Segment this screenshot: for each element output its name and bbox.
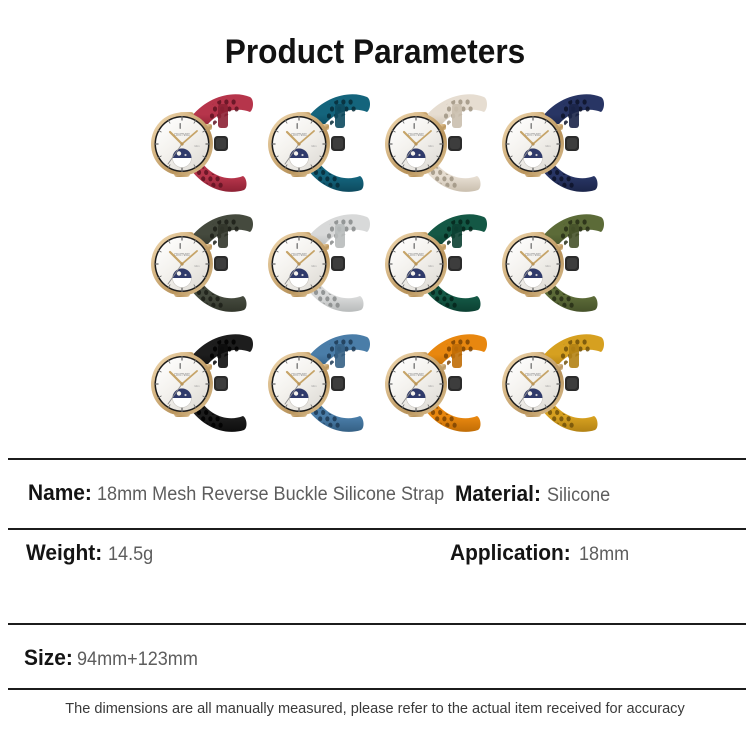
svg-text:OMTWE: OMTWE <box>525 372 541 377</box>
svg-text:Mon: Mon <box>545 264 551 268</box>
svg-text:OMTWE: OMTWE <box>174 252 190 257</box>
svg-text:OMTWE: OMTWE <box>408 372 424 377</box>
watch-strap-beige[interactable]: OMTWE Mon <box>380 84 497 204</box>
spec-divider-2 <box>8 528 746 530</box>
spec-label-size: Size: <box>24 643 73 673</box>
spec-label-application: Application: <box>450 538 571 568</box>
spec-divider-1 <box>8 458 746 460</box>
svg-text:Mon: Mon <box>545 144 551 148</box>
svg-text:Mon: Mon <box>428 264 434 268</box>
watch-strap-steel-blue[interactable]: OMTWE Mon <box>263 324 380 444</box>
watch-strap-mustard[interactable]: OMTWE Mon <box>497 324 614 444</box>
watch-image: OMTWE Mon <box>499 330 611 438</box>
watch-strap-dark-green[interactable]: OMTWE Mon <box>380 204 497 324</box>
spec-field-weight: Weight: 14.5g <box>26 538 156 568</box>
svg-text:OMTWE: OMTWE <box>525 132 541 137</box>
spec-label-name: Name: <box>28 478 92 508</box>
spec-label-material: Material: <box>455 479 541 509</box>
svg-text:OMTWE: OMTWE <box>525 252 541 257</box>
spec-value-size: 94mm+123mm <box>77 645 198 675</box>
svg-text:OMTWE: OMTWE <box>408 252 424 257</box>
watch-image: OMTWE Mon <box>499 210 611 318</box>
watch-image: OMTWE Mon <box>148 330 260 438</box>
svg-text:Mon: Mon <box>194 144 200 148</box>
spec-value-application: 18mm <box>579 540 629 570</box>
svg-text:Mon: Mon <box>311 264 317 268</box>
svg-text:Mon: Mon <box>545 384 551 388</box>
svg-text:OMTWE: OMTWE <box>174 372 190 377</box>
watch-image: OMTWE Mon <box>382 210 494 318</box>
watch-image: OMTWE Mon <box>148 210 260 318</box>
spec-field-material: Material: Silicone <box>455 479 614 509</box>
watch-image: OMTWE Mon <box>265 330 377 438</box>
watch-strap-teal[interactable]: OMTWE Mon <box>263 84 380 204</box>
svg-text:Mon: Mon <box>311 144 317 148</box>
page-title: Product Parameters <box>26 0 724 74</box>
spec-divider-4 <box>8 688 746 690</box>
spec-field-name: Name:18mm Mesh Reverse Buckle Silicone S… <box>28 478 463 508</box>
spec-divider-3 <box>8 623 746 625</box>
svg-text:Mon: Mon <box>311 384 317 388</box>
svg-text:Mon: Mon <box>428 384 434 388</box>
watch-strap-dark-olive[interactable]: OMTWE Mon <box>146 204 263 324</box>
watch-image: OMTWE Mon <box>265 210 377 318</box>
watch-strap-light-gray[interactable]: OMTWE Mon <box>263 204 380 324</box>
spec-row-name: Name:18mm Mesh Reverse Buckle Silicone S… <box>0 478 750 518</box>
spec-label-weight: Weight: <box>26 538 102 568</box>
spec-row-weight: Weight: 14.5g Application: 18mm <box>0 538 750 578</box>
spec-value-weight: 14.5g <box>108 540 153 570</box>
spec-field-application: Application: 18mm <box>450 538 632 568</box>
product-color-gallery: OMTWE Mon <box>146 84 614 452</box>
svg-text:OMTWE: OMTWE <box>291 132 307 137</box>
watch-image: OMTWE Mon <box>499 90 611 198</box>
svg-text:OMTWE: OMTWE <box>291 372 307 377</box>
svg-text:OMTWE: OMTWE <box>291 252 307 257</box>
spec-value-material: Silicone <box>547 481 610 511</box>
spec-row-size: Size: 94mm+123mm <box>0 643 750 683</box>
watch-image: OMTWE Mon <box>148 90 260 198</box>
svg-text:Mon: Mon <box>194 384 200 388</box>
watch-strap-orange[interactable]: OMTWE Mon <box>380 324 497 444</box>
spec-value-name: 18mm Mesh Reverse Buckle Silicone Strap <box>97 480 444 510</box>
watch-strap-navy[interactable]: OMTWE Mon <box>497 84 614 204</box>
watch-strap-black[interactable]: OMTWE Mon <box>146 324 263 444</box>
svg-text:OMTWE: OMTWE <box>174 132 190 137</box>
watch-strap-army-green[interactable]: OMTWE Mon <box>497 204 614 324</box>
spec-field-size: Size: 94mm+123mm <box>24 643 205 673</box>
watch-strap-red[interactable]: OMTWE Mon <box>146 84 263 204</box>
svg-text:OMTWE: OMTWE <box>408 132 424 137</box>
svg-text:Mon: Mon <box>194 264 200 268</box>
svg-text:Mon: Mon <box>428 144 434 148</box>
measurement-disclaimer: The dimensions are all manually measured… <box>11 700 739 717</box>
watch-image: OMTWE Mon <box>382 330 494 438</box>
watch-image: OMTWE Mon <box>265 90 377 198</box>
watch-image: OMTWE Mon <box>382 90 494 198</box>
